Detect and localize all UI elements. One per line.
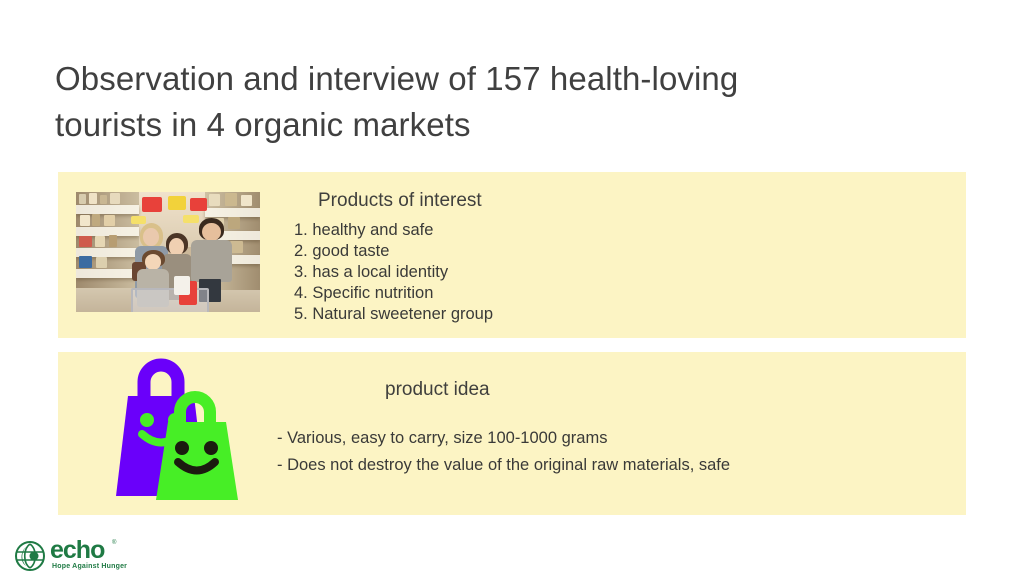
list-item: 2. good taste <box>294 241 493 262</box>
products-of-interest-heading: Products of interest <box>318 190 482 212</box>
list-item: 5. Natural sweetener group <box>294 304 493 325</box>
list-item: - Does not destroy the value of the orig… <box>277 452 730 479</box>
product-idea-panel: product idea - Various, easy to carry, s… <box>58 352 966 515</box>
echo-tagline: Hope Against Hunger <box>52 563 127 570</box>
product-idea-lines: - Various, easy to carry, size 100-1000 … <box>277 425 730 479</box>
products-of-interest-list: 1. healthy and safe 2. good taste 3. has… <box>294 220 493 325</box>
product-idea-heading: product idea <box>385 379 490 401</box>
products-of-interest-panel: Products of interest 1. healthy and safe… <box>58 172 966 338</box>
echo-logo: echo ® Hope Against Hunger <box>14 540 118 572</box>
page-title: Observation and interview of 157 health-… <box>55 56 915 148</box>
smiling-shopping-bags-icon <box>98 356 258 504</box>
echo-globe-leaf-icon <box>14 540 46 572</box>
echo-wordmark: echo <box>50 538 104 563</box>
list-item: 3. has a local identity <box>294 262 493 283</box>
family-shopping-supermarket-photo <box>76 192 260 312</box>
list-item: 4. Specific nutrition <box>294 283 493 304</box>
registered-trademark-mark: ® <box>112 540 116 546</box>
list-item: - Various, easy to carry, size 100-1000 … <box>277 425 730 452</box>
list-item: 1. healthy and safe <box>294 220 493 241</box>
